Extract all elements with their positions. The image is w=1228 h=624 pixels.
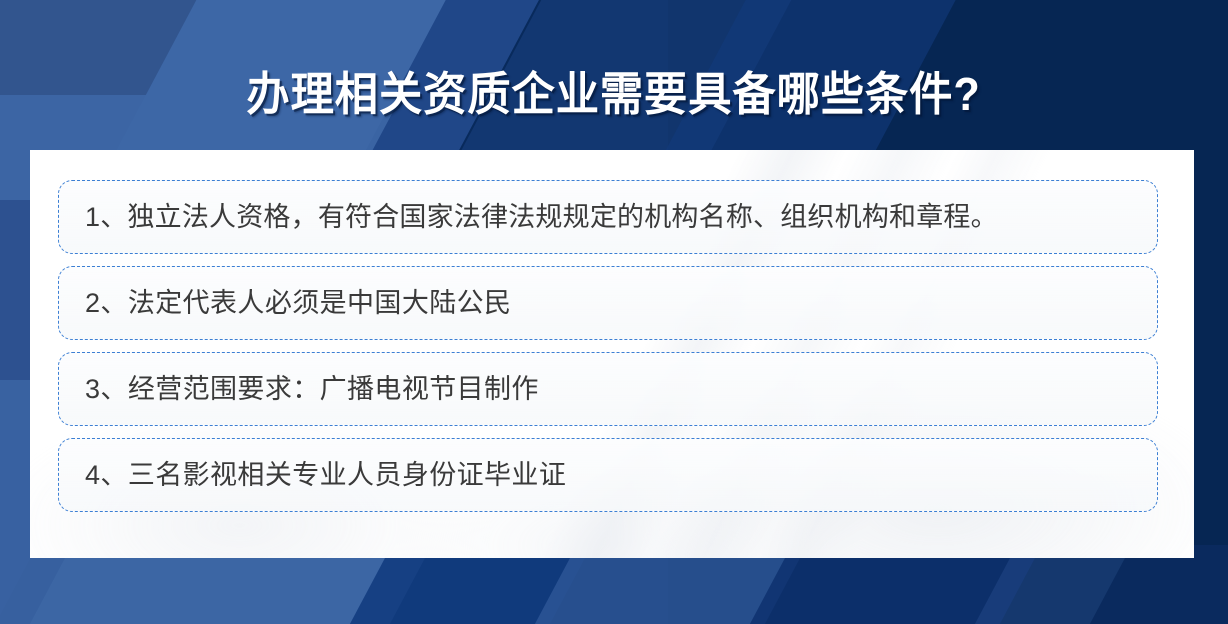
list-item[interactable]: 1、独立法人资格，有符合国家法律法规规定的机构名称、组织机构和章程。 bbox=[58, 180, 1158, 254]
list-item-label: 1、独立法人资格，有符合国家法律法规规定的机构名称、组织机构和章程。 bbox=[59, 200, 1014, 234]
page-title-container: 办理相关资质企业需要具备哪些条件? bbox=[0, 36, 1228, 152]
list-item-label: 3、经营范围要求：广播电视节目制作 bbox=[59, 372, 555, 406]
requirement-list: 1、独立法人资格，有符合国家法律法规规定的机构名称、组织机构和章程。 2、法定代… bbox=[58, 180, 1158, 512]
list-item[interactable]: 2、法定代表人必须是中国大陆公民 bbox=[58, 266, 1158, 340]
list-item[interactable]: 3、经营范围要求：广播电视节目制作 bbox=[58, 352, 1158, 426]
list-item[interactable]: 4、三名影视相关专业人员身份证毕业证 bbox=[58, 438, 1158, 512]
poster-stage: 办理相关资质企业需要具备哪些条件? 1、独立法人资格，有符合国家法律法规规定的机… bbox=[0, 0, 1228, 624]
content-card: 1、独立法人资格，有符合国家法律法规规定的机构名称、组织机构和章程。 2、法定代… bbox=[30, 150, 1194, 558]
list-item-label: 4、三名影视相关专业人员身份证毕业证 bbox=[59, 458, 582, 492]
list-item-label: 2、法定代表人必须是中国大陆公民 bbox=[59, 286, 527, 320]
page-title: 办理相关资质企业需要具备哪些条件? bbox=[247, 67, 981, 121]
